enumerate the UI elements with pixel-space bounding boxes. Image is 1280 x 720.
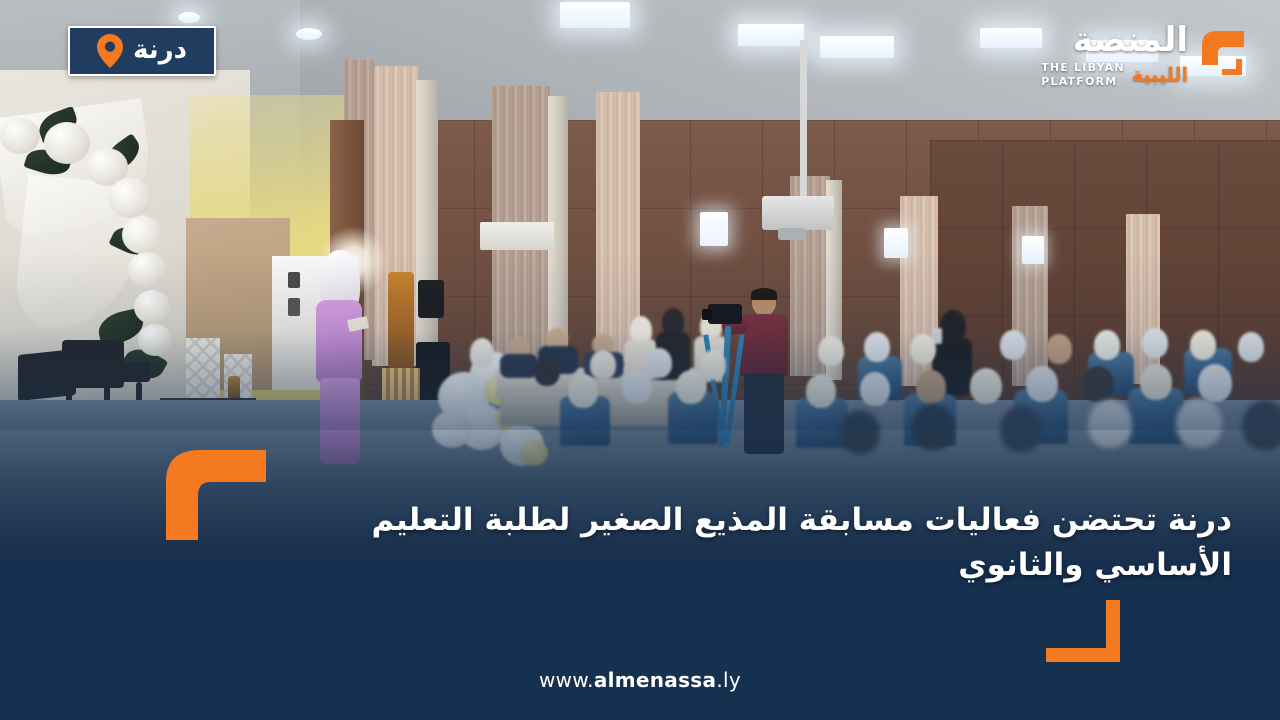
footer-url-suffix: .ly [716, 668, 741, 692]
ceiling-light [980, 28, 1042, 48]
ceiling-light [560, 2, 630, 28]
location-badge-label: درنة [133, 37, 187, 66]
orange-corner-bracket-bottom-right-icon [1046, 600, 1126, 662]
news-graphic-card: درنة المنصة THE LIBYAN PLATFORM الليبية [0, 0, 1280, 720]
logo-arabic-subtitle: الليبية [1132, 66, 1188, 85]
projector-pole [800, 40, 807, 200]
logo-english-line1: THE LIBYAN [1041, 61, 1125, 75]
footer-url-brand: almenassa [594, 668, 717, 692]
footer-url[interactable]: www.almenassa.ly [0, 668, 1280, 692]
rose-flower [108, 178, 152, 218]
location-badge[interactable]: درنة [68, 26, 216, 76]
ceiling-light [738, 24, 804, 46]
rose-flower [44, 122, 90, 164]
rose-flower [122, 216, 162, 254]
headline-line-2: الأساسي والثانوي [352, 543, 1232, 588]
headline-line-1: درنة تحتضن فعاليات مسابقة المذيع الصغير … [352, 498, 1232, 543]
logo-text-block: المنصة THE LIBYAN PLATFORM الليبية [1041, 23, 1188, 89]
air-conditioner [480, 222, 554, 250]
logo-english-name: THE LIBYAN PLATFORM [1041, 61, 1125, 89]
footer-url-prefix: www. [539, 668, 594, 692]
headline: درنة تحتضن فعاليات مسابقة المذيع الصغير … [352, 498, 1232, 588]
orange-bracket-mark-icon [1196, 25, 1258, 87]
orange-corner-bracket-top-left-icon [162, 448, 266, 540]
wall-light [700, 212, 728, 246]
ceiling-light [820, 36, 894, 58]
logo-arabic-name: المنصة [1073, 23, 1188, 57]
brand-logo[interactable]: المنصة THE LIBYAN PLATFORM الليبية [1041, 18, 1258, 94]
logo-subtitle-row: THE LIBYAN PLATFORM الليبية [1041, 61, 1188, 89]
map-pin-icon [97, 34, 123, 68]
ceiling-projector [762, 196, 834, 230]
ceiling-projector-lens [778, 228, 806, 240]
ceiling-light [178, 12, 200, 23]
logo-english-line2: PLATFORM [1041, 75, 1125, 89]
ceiling-light [296, 28, 322, 40]
rose-flower [0, 118, 40, 154]
